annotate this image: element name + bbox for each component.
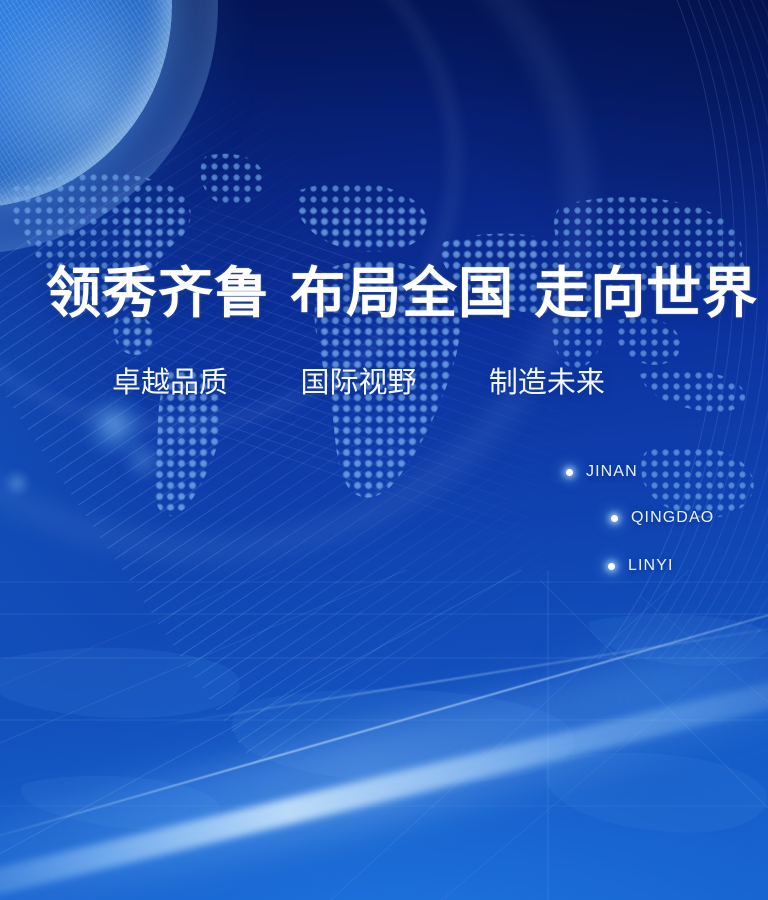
banner-content: 领秀齐鲁 布局全国 走向世界 卓越品质 国际视野 制造未来 JINAN QING…	[0, 0, 768, 900]
hero-banner: 领秀齐鲁 布局全国 走向世界 卓越品质 国际视野 制造未来 JINAN QING…	[0, 0, 768, 900]
subtitle-part-1: 卓越品质	[112, 365, 228, 399]
banner-headline: 领秀齐鲁 布局全国 走向世界	[46, 265, 758, 320]
map-pin-dot-icon	[611, 515, 618, 522]
map-pin-dot-icon	[608, 563, 615, 570]
subtitle-part-2: 国际视野	[300, 365, 416, 399]
city-marker-qingdao[interactable]: QINGDAO	[611, 509, 714, 527]
city-marker-jinan[interactable]: JINAN	[566, 463, 638, 481]
map-pin-dot-icon	[566, 469, 573, 476]
subtitle-part-3: 制造未来	[489, 365, 605, 399]
banner-subtitle: 卓越品质 国际视野 制造未来	[112, 368, 605, 397]
city-label: JINAN	[586, 463, 638, 481]
city-marker-linyi[interactable]: LINYI	[608, 557, 674, 575]
city-label: QINGDAO	[631, 509, 714, 527]
city-label: LINYI	[628, 557, 674, 575]
